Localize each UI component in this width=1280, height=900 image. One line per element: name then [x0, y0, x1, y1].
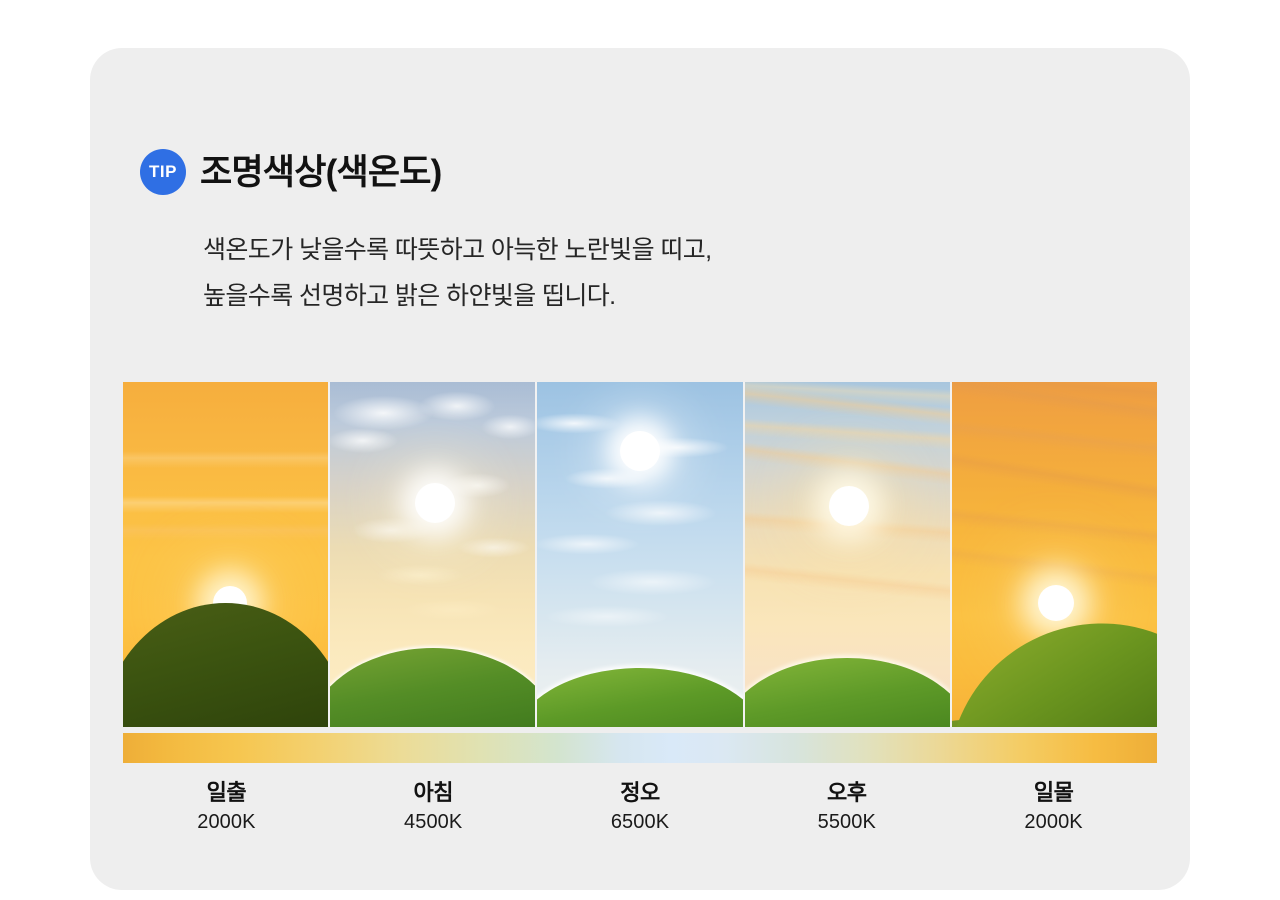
kelvin-label-sunrise: 일출 2000K: [123, 779, 330, 838]
kelvin-label-value-sunrise: 2000K: [123, 807, 330, 838]
sun-icon-afternoon: [829, 486, 869, 526]
kelvin-label-name-afternoon: 오후: [743, 779, 950, 807]
description-line-2: 높을수록 선명하고 밝은 하얀빛을 띱니다.: [203, 274, 711, 320]
tip-header: TIP 조명색상(색온도): [140, 149, 442, 195]
tip-badge: TIP: [140, 149, 186, 195]
kelvin-label-name-morning: 아침: [330, 779, 537, 807]
kelvin-label-name-noon: 정오: [537, 779, 744, 807]
kelvin-label-row: 일출 2000K 아침 4500K 정오 6500K 오후 5500K 일몰 2…: [123, 779, 1157, 838]
description-line-1: 색온도가 낮을수록 따뜻하고 아늑한 노란빛을 띠고,: [203, 228, 711, 274]
strip-panel-sunset: [952, 382, 1157, 727]
kelvin-label-name-sunset: 일몰: [950, 779, 1157, 807]
tip-card: TIP 조명색상(색온도) 색온도가 낮을수록 따뜻하고 아늑한 노란빛을 띠고…: [90, 48, 1190, 890]
kelvin-label-value-afternoon: 5500K: [743, 807, 950, 838]
color-temperature-image-strip: [123, 382, 1157, 727]
kelvin-label-noon: 정오 6500K: [537, 779, 744, 838]
sun-icon-noon: [620, 431, 660, 471]
kelvin-label-value-sunset: 2000K: [950, 807, 1157, 838]
kelvin-label-name-sunrise: 일출: [123, 779, 330, 807]
kelvin-gradient-bar: [123, 733, 1157, 763]
tip-description: 색온도가 낮을수록 따뜻하고 아늑한 노란빛을 띠고, 높을수록 선명하고 밝은…: [203, 228, 711, 319]
kelvin-label-afternoon: 오후 5500K: [743, 779, 950, 838]
kelvin-label-value-noon: 6500K: [537, 807, 744, 838]
sun-icon-sunset: [1038, 585, 1074, 621]
strip-panel-noon: [537, 382, 744, 727]
strip-panel-sunrise: [123, 382, 330, 727]
page-root: TIP 조명색상(색온도) 색온도가 낮을수록 따뜻하고 아늑한 노란빛을 띠고…: [0, 0, 1280, 900]
kelvin-label-sunset: 일몰 2000K: [950, 779, 1157, 838]
strip-panel-afternoon: [745, 382, 952, 727]
sun-icon-morning: [415, 483, 455, 523]
kelvin-label-value-morning: 4500K: [330, 807, 537, 838]
kelvin-label-morning: 아침 4500K: [330, 779, 537, 838]
page-title: 조명색상(색온도): [200, 155, 442, 190]
strip-panel-morning: [330, 382, 537, 727]
